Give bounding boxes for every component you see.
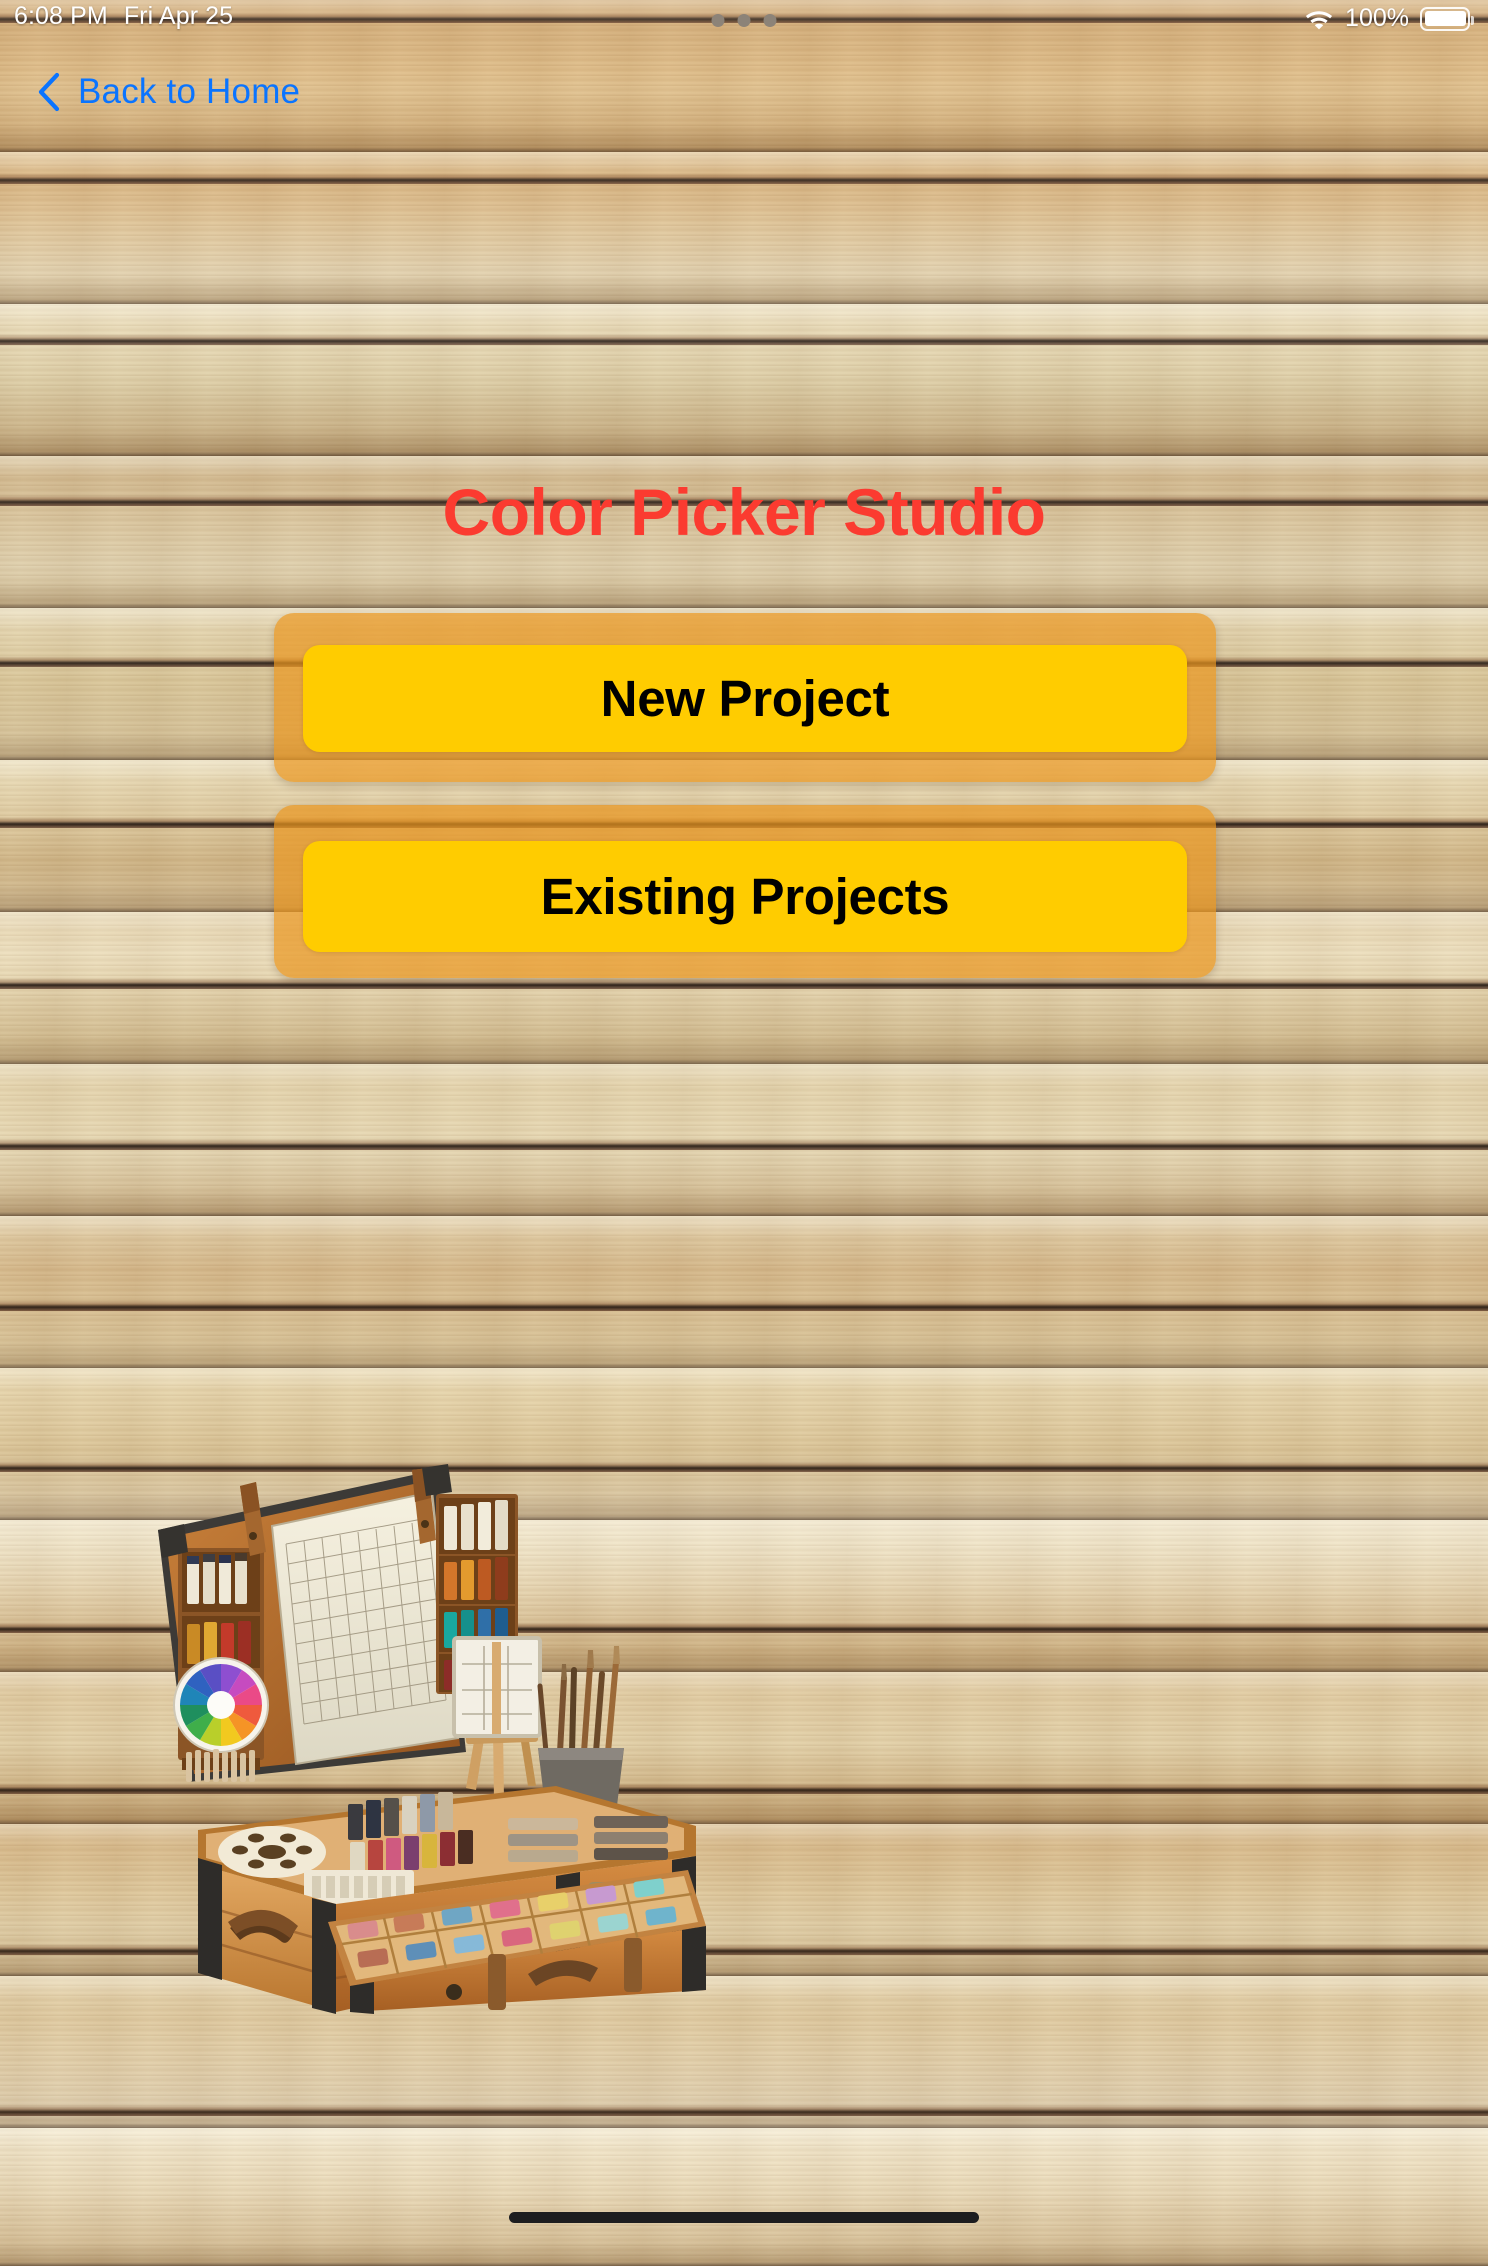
status-bar-left: 6:08 PM Fri Apr 25 [14, 2, 233, 31]
battery-full-icon [1420, 7, 1470, 31]
chevron-left-icon [36, 72, 62, 112]
art-supply-case-illustration [136, 1452, 720, 2020]
status-time: 6:08 PM [14, 2, 108, 31]
new-project-label: New Project [601, 669, 890, 728]
back-to-home-label: Back to Home [78, 72, 300, 112]
new-project-button[interactable]: New Project [274, 613, 1216, 782]
home-indicator[interactable] [509, 2212, 979, 2223]
new-project-button-surface[interactable]: New Project [303, 645, 1187, 752]
three-dots-icon [712, 14, 777, 27]
back-to-home-button[interactable]: Back to Home [36, 72, 300, 112]
existing-projects-button-surface[interactable]: Existing Projects [303, 841, 1187, 952]
status-bar-right: 100% [1304, 4, 1470, 33]
wifi-icon [1304, 8, 1334, 30]
existing-projects-button[interactable]: Existing Projects [274, 805, 1216, 978]
app-screen: 6:08 PM Fri Apr 25 100% Back to Hom [0, 0, 1488, 2266]
status-bar: 6:08 PM Fri Apr 25 100% [0, 0, 1488, 44]
page-title: Color Picker Studio [0, 474, 1488, 550]
status-date: Fri Apr 25 [124, 2, 233, 31]
existing-projects-label: Existing Projects [541, 867, 950, 926]
battery-percentage: 100% [1345, 4, 1409, 33]
